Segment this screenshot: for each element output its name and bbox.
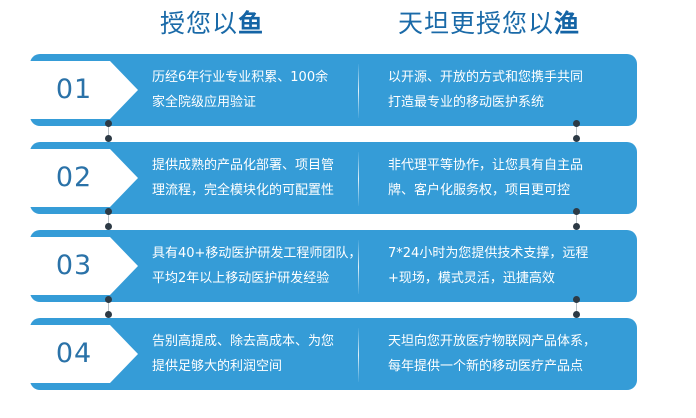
connector-pin-icon [573,120,580,142]
pin-dot-top [105,296,112,303]
row-left-line-1: 告别高提成、除去高成本、为您 [152,329,358,354]
pin-dot-top [573,120,580,127]
row-left-line-1: 历经6年行业专业积累、100余 [152,65,358,90]
row-left-text: 历经6年行业专业积累、100余 家全院级应用验证 [152,65,358,117]
pin-dot-bottom [573,311,580,318]
row-right-line-2: +现场，模式灵活，迅捷高效 [388,266,628,291]
comparison-rows: 01 历经6年行业专业积累、100余 家全院级应用验证 以开源、开放的方式和您携… [0,48,696,418]
row-number-badge: 03 [30,237,138,295]
column-divider [358,240,359,294]
row-right-text: 天坦向您开放医疗物联网产品体系， 每年提供一个新的移动医疗产品点 [388,329,628,381]
pin-dot-top [573,296,580,303]
row-number-badge: 01 [30,61,138,119]
comparison-row: 03 具有40+移动医护研发工程师团队， 平均2年以上移动医护研发经验 7*24… [30,230,637,302]
row-number: 03 [38,237,110,295]
headers-band: 授您以鱼 天坦更授您以渔 [0,0,696,48]
pin-dot-top [573,208,580,215]
row-left-line-1: 提供成熟的产品化部署、项目管 [152,153,358,178]
header-left-emphasis: 鱼 [238,9,264,38]
column-divider [358,328,359,382]
row-left-text: 提供成熟的产品化部署、项目管 理流程，完全模块化的可配置性 [152,153,358,205]
header-left: 授您以鱼 [160,6,264,42]
column-divider [358,64,359,118]
comparison-row: 02 提供成熟的产品化部署、项目管 理流程，完全模块化的可配置性 非代理平等协作… [30,142,637,214]
row-right-text: 以开源、开放的方式和您携手共同 打造最专业的移动医护系统 [388,65,628,117]
row-right-line-1: 以开源、开放的方式和您携手共同 [388,65,628,90]
header-right: 天坦更授您以渔 [398,6,580,42]
row-left-line-1: 具有40+移动医护研发工程师团队， [152,241,358,266]
connector-pin-icon [573,208,580,230]
pin-dot-bottom [105,311,112,318]
connector-pin-icon [105,208,112,230]
row-right-text: 非代理平等协作，让您具有自主品 牌、客户化服务权，项目更可控 [388,153,628,205]
connector-pin-icon [105,120,112,142]
row-number-badge: 04 [30,325,138,383]
pin-dot-bottom [105,135,112,142]
column-divider [358,152,359,206]
row-left-line-2: 提供足够大的利润空间 [152,354,358,379]
row-left-line-2: 平均2年以上移动医护研发经验 [152,266,358,291]
comparison-row: 04 告别高提成、除去高成本、为您 提供足够大的利润空间 天坦向您开放医疗物联网… [30,318,637,390]
pin-dot-top [105,120,112,127]
row-right-line-2: 牌、客户化服务权，项目更可控 [388,178,628,203]
pin-dot-bottom [573,135,580,142]
connector-pin-icon [573,296,580,318]
header-right-emphasis: 渔 [554,9,580,38]
row-number: 04 [38,325,110,383]
row-right-line-1: 天坦向您开放医疗物联网产品体系， [388,329,628,354]
row-number: 02 [38,149,110,207]
header-right-prefix: 天坦更授您以 [398,9,554,38]
row-right-text: 7*24小时为您提供技术支撑，远程 +现场，模式灵活，迅捷高效 [388,241,628,293]
header-left-prefix: 授您以 [160,9,238,38]
row-left-text: 告别高提成、除去高成本、为您 提供足够大的利润空间 [152,329,358,381]
row-right-line-2: 打造最专业的移动医护系统 [388,90,628,115]
row-number-badge: 02 [30,149,138,207]
row-number: 01 [38,61,110,119]
comparison-row: 01 历经6年行业专业积累、100余 家全院级应用验证 以开源、开放的方式和您携… [30,54,637,126]
pin-dot-bottom [105,223,112,230]
row-right-line-1: 7*24小时为您提供技术支撑，远程 [388,241,628,266]
connector-pin-icon [105,296,112,318]
row-left-line-2: 家全院级应用验证 [152,90,358,115]
row-left-text: 具有40+移动医护研发工程师团队， 平均2年以上移动医护研发经验 [152,241,358,293]
row-right-line-1: 非代理平等协作，让您具有自主品 [388,153,628,178]
pin-dot-bottom [573,223,580,230]
pin-dot-top [105,208,112,215]
row-right-line-2: 每年提供一个新的移动医疗产品点 [388,354,628,379]
row-left-line-2: 理流程，完全模块化的可配置性 [152,178,358,203]
